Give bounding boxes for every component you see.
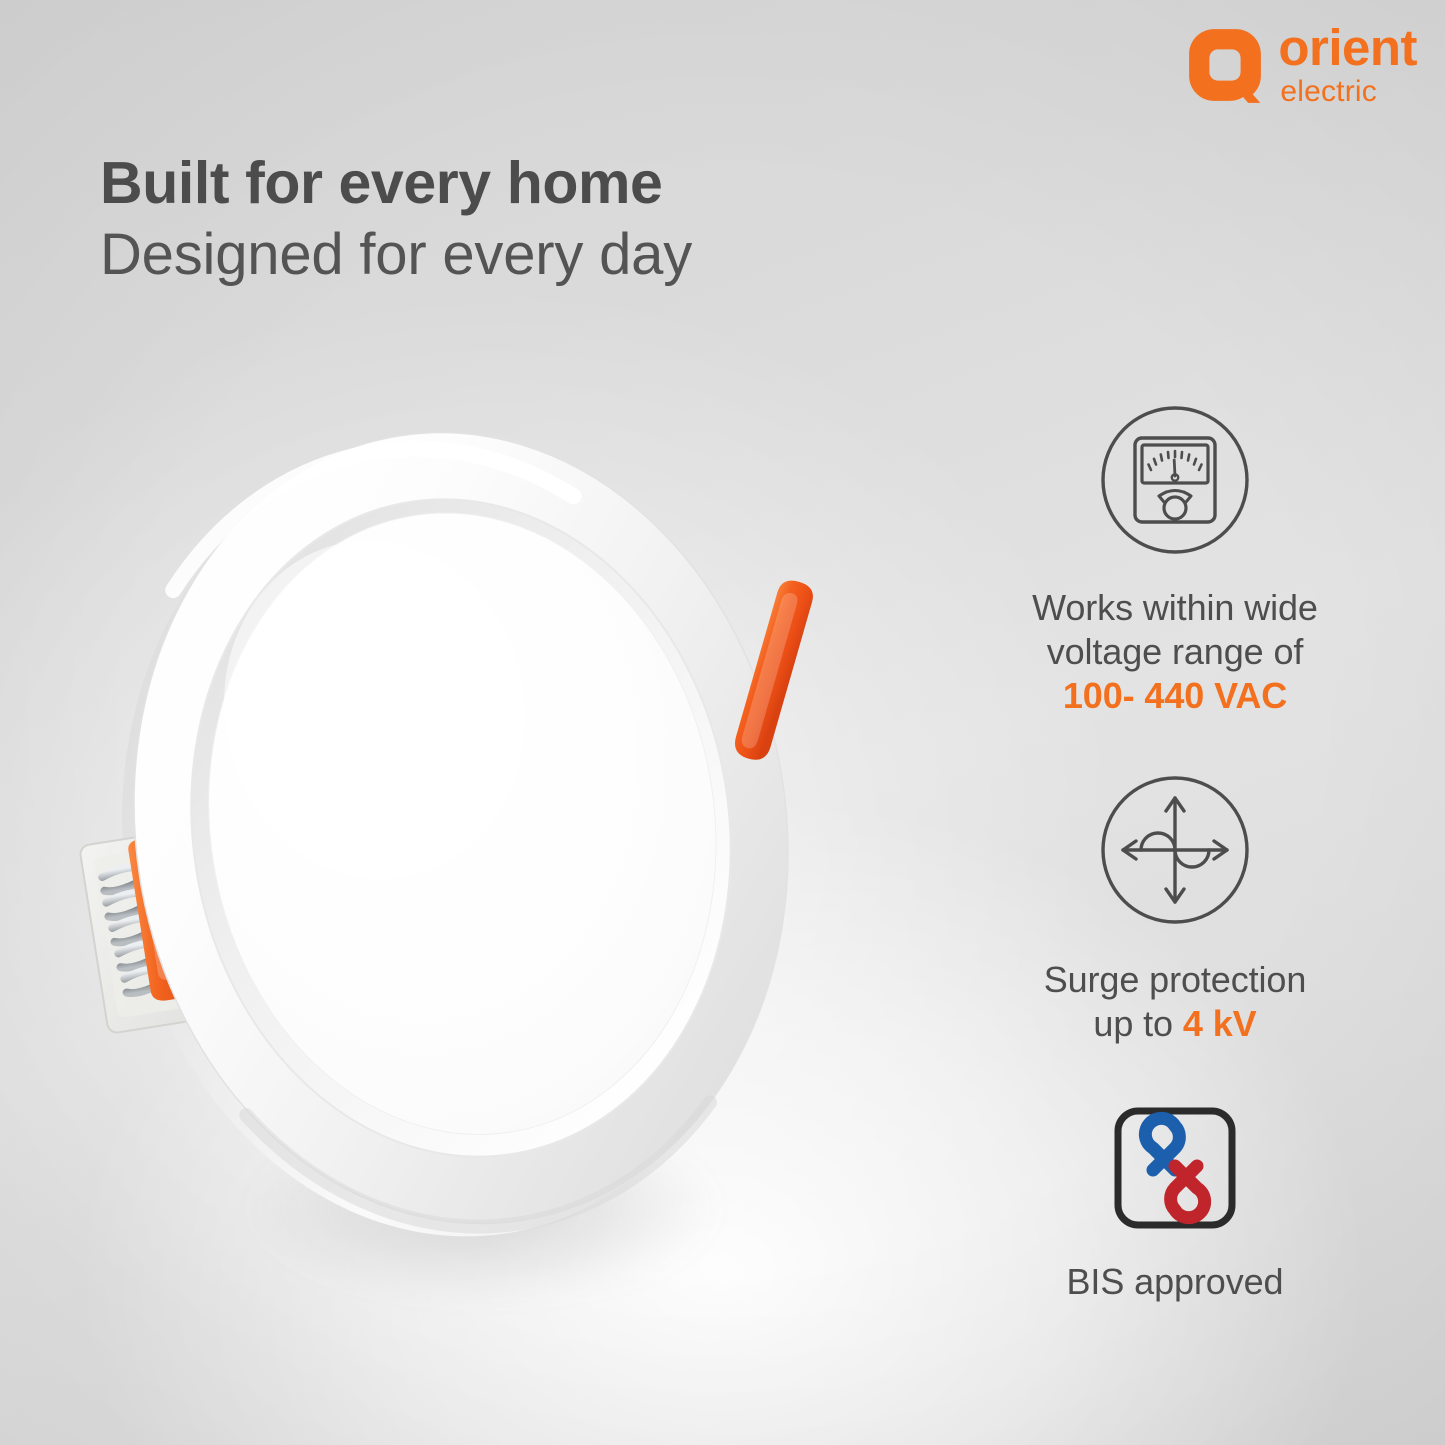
headline-line-1: Built for every home bbox=[100, 152, 692, 215]
feature-list: Works within wide voltage range of 100- … bbox=[955, 400, 1395, 1303]
feature-voltage-highlight: 100- 440 VAC bbox=[1063, 675, 1287, 716]
brand-logo: orient electric bbox=[1186, 22, 1417, 107]
feature-surge-line1: Surge protection bbox=[1044, 959, 1307, 1000]
feature-surge-text: Surge protection up to 4 kV bbox=[1044, 958, 1307, 1046]
brand-wordmark: orient electric bbox=[1278, 22, 1417, 107]
page-title: Built for every home Designed for every … bbox=[100, 152, 692, 285]
feature-voltage-range: Works within wide voltage range of 100- … bbox=[955, 400, 1395, 718]
feature-voltage-line2: voltage range of bbox=[1047, 631, 1304, 672]
bis-logo-icon bbox=[1113, 1106, 1237, 1230]
feature-bis-approved: BIS approved bbox=[955, 1106, 1395, 1304]
feature-surge-line2: up to bbox=[1093, 1003, 1182, 1044]
feature-voltage-line1: Works within wide bbox=[1032, 587, 1318, 628]
orient-q-mark-icon bbox=[1186, 26, 1264, 104]
led-downlight-illustration bbox=[64, 398, 854, 1258]
feature-surge-highlight: 4 kV bbox=[1183, 1003, 1257, 1044]
brand-tagline: electric bbox=[1280, 77, 1417, 107]
headline-line-2: Designed for every day bbox=[100, 224, 692, 285]
feature-surge-protection: Surge protection up to 4 kV bbox=[955, 770, 1395, 1046]
voltmeter-icon bbox=[1095, 400, 1255, 560]
feature-bis-text: BIS approved bbox=[1067, 1260, 1284, 1304]
brand-name: orient bbox=[1278, 22, 1417, 73]
product-image bbox=[64, 398, 854, 1258]
feature-bis-label: BIS approved bbox=[1067, 1261, 1284, 1302]
surge-arrows-icon bbox=[1095, 770, 1255, 930]
feature-voltage-text: Works within wide voltage range of 100- … bbox=[1032, 586, 1318, 718]
